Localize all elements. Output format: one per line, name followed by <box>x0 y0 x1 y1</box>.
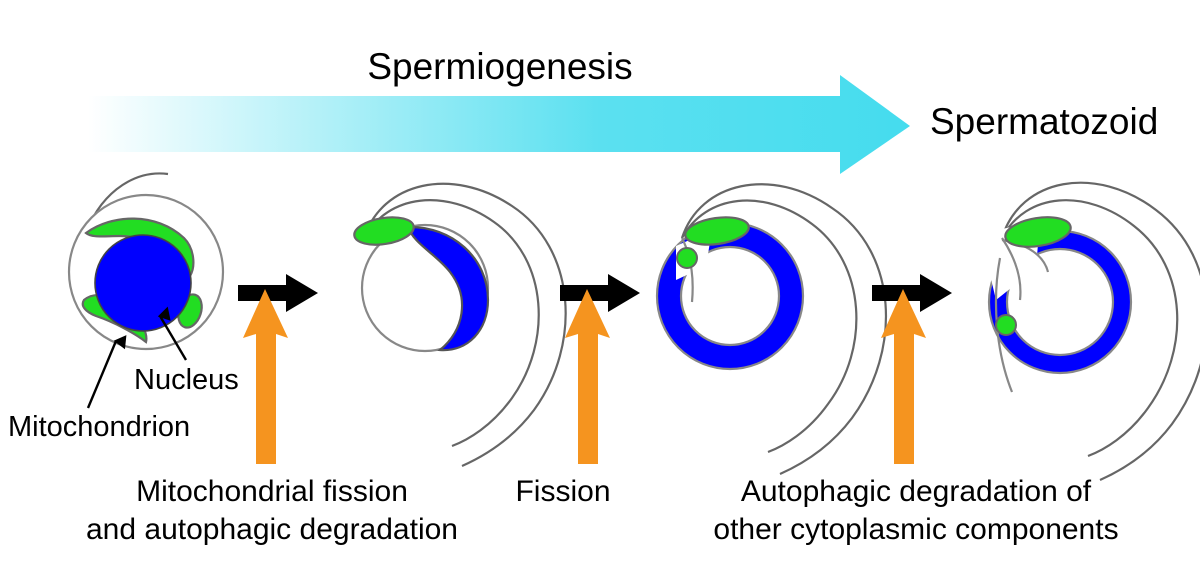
stage-3-elongated-spermatid <box>657 184 886 474</box>
spermatozoid-label: Spermatozoid <box>930 101 1158 142</box>
step-arrow-2 <box>565 289 610 464</box>
step-caption-3-line-1: Autophagic degradation of <box>656 473 1176 511</box>
step-caption-2-line-1: Fission <box>468 473 658 511</box>
step-caption-2: Fission <box>468 473 658 511</box>
mitochondrion-fragment <box>677 248 697 268</box>
step-arrow-3 <box>881 289 926 464</box>
step-caption-1-line-2: and autophagic degradation <box>62 511 482 549</box>
spermiogenesis-process-arrow <box>88 75 910 174</box>
step-caption-1-line-1: Mitochondrial fission <box>62 473 482 511</box>
mitochondrion-fragment <box>996 315 1016 335</box>
mitochondrion-annotation-label: Mitochondrion <box>8 411 190 443</box>
transition-arrow-2 <box>560 274 640 312</box>
step-caption-3: Autophagic degradation of other cytoplas… <box>656 473 1176 550</box>
nucleus-shape <box>95 235 191 331</box>
stage-4-spermatozoid <box>988 183 1200 480</box>
step-arrow-1 <box>243 289 288 464</box>
transition-arrow-3 <box>872 274 952 312</box>
transition-arrow-1 <box>238 274 318 312</box>
step-caption-1: Mitochondrial fission and autophagic deg… <box>62 473 482 550</box>
nucleus-annotation-label: Nucleus <box>134 364 239 396</box>
page-title: Spermiogenesis <box>0 46 1000 87</box>
stage-2-elongating-spermatid <box>352 184 565 466</box>
spermiogenesis-diagram: Spermiogenesis Spermatozoid Nucleus Mito… <box>0 0 1200 587</box>
step-caption-3-line-2: other cytoplasmic components <box>656 511 1176 549</box>
